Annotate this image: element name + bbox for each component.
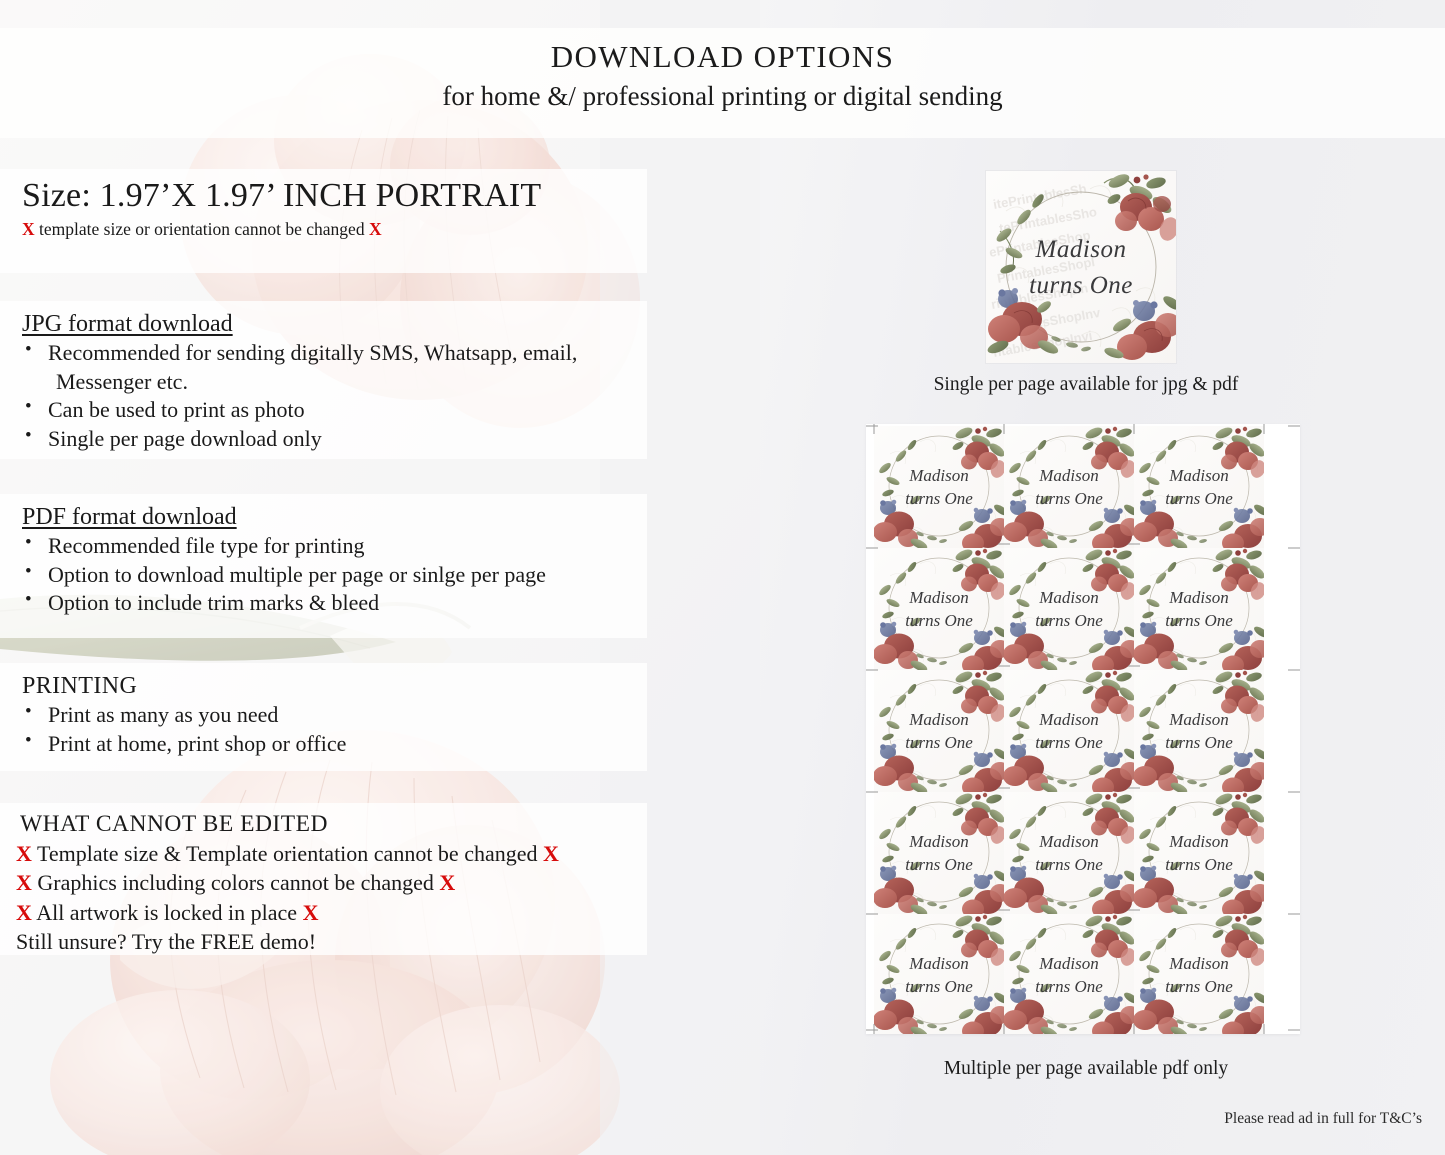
card-grid [874, 426, 1264, 1034]
list-item: Can be used to print as photo [22, 396, 633, 425]
grid-card [1004, 914, 1134, 1034]
pdf-format-panel: PDF format download Recommended file typ… [0, 494, 647, 638]
grid-card [1134, 548, 1264, 670]
printing-section-heading: PRINTING [22, 673, 633, 700]
x-mark-icon: X [22, 219, 35, 239]
jpg-format-panel: JPG format download Recommended for send… [0, 301, 647, 459]
printing-panel: PRINTING Print as many as you need Print… [0, 663, 647, 771]
list-item: Messenger etc. [22, 368, 633, 397]
grid-card [874, 670, 1004, 792]
pdf-section-heading: PDF format download [22, 504, 633, 531]
list-item: Option to include trim marks & bleed [22, 589, 633, 618]
grid-card [874, 914, 1004, 1034]
svg-text:Madison: Madison [1035, 236, 1127, 263]
locked-restriction-line: X All artwork is locked in place X [16, 898, 633, 927]
single-per-page-caption: Single per page available for jpg & pdf [876, 374, 1296, 396]
list-item: Print at home, print shop or office [22, 730, 633, 759]
svg-text:turns One: turns One [1029, 272, 1133, 299]
x-mark-icon: X [16, 900, 32, 925]
terms-and-conditions-note: Please read ad in full for T&C’s [1110, 1110, 1430, 1128]
grid-card [874, 792, 1004, 914]
list-item: Option to download multiple per page or … [22, 561, 633, 590]
multiple-per-page-caption: Multiple per page available pdf only [876, 1058, 1296, 1080]
size-restriction-note: X template size or orientation cannot be… [22, 219, 633, 240]
multiple-per-page-sheet [866, 424, 1300, 1034]
page-title: DOWNLOAD OPTIONS [0, 39, 1445, 75]
x-mark-icon: X [16, 841, 32, 866]
grid-card [1134, 792, 1264, 914]
jpg-bullet-list: Recommended for sending digitally SMS, W… [22, 339, 633, 453]
card-artwork: itePrintablesSh tePrintablesSho ePrintab… [986, 171, 1176, 363]
grid-card [1004, 548, 1134, 670]
list-item: Print as many as you need [22, 701, 633, 730]
locked-restriction-text: Template size & Template orientation can… [37, 841, 538, 866]
grid-card [1004, 426, 1134, 548]
x-mark-icon: X [369, 219, 382, 239]
single-card-preview: itePrintablesSh tePrintablesSho ePrintab… [986, 171, 1176, 363]
grid-card [1004, 792, 1134, 914]
header-band: DOWNLOAD OPTIONS for home &/ professiona… [0, 28, 1445, 138]
locked-restriction-text: Graphics including colors cannot be chan… [37, 870, 433, 895]
printing-bullet-list: Print as many as you need Print at home,… [22, 701, 633, 758]
list-item: Single per page download only [22, 425, 633, 454]
size-restriction-text: template size or orientation cannot be c… [39, 219, 365, 239]
pdf-bullet-list: Recommended file type for printing Optio… [22, 532, 633, 618]
jpg-section-heading: JPG format download [22, 311, 633, 338]
cannot-be-edited-panel: WHAT CANNOT BE EDITED X Template size & … [0, 803, 647, 955]
grid-card [1004, 670, 1134, 792]
template-size-line: Size: 1.97’X 1.97’ INCH PORTRAIT [22, 177, 633, 215]
locked-restriction-text: All artwork is locked in place [36, 900, 297, 925]
grid-card [1134, 670, 1264, 792]
cannot-be-edited-heading: WHAT CANNOT BE EDITED [20, 811, 633, 838]
poster-canvas: DOWNLOAD OPTIONS for home &/ professiona… [0, 0, 1445, 1155]
list-item: Recommended for sending digitally SMS, W… [22, 339, 633, 368]
list-item: Recommended file type for printing [22, 532, 633, 561]
x-mark-icon: X [303, 900, 319, 925]
free-demo-line: Still unsure? Try the FREE demo! [16, 927, 633, 956]
locked-restriction-line: X Graphics including colors cannot be ch… [16, 868, 633, 897]
grid-card [874, 426, 1004, 548]
page-subtitle: for home &/ professional printing or dig… [0, 81, 1445, 112]
x-mark-icon: X [16, 870, 32, 895]
locked-restriction-line: X Template size & Template orientation c… [16, 839, 633, 868]
x-mark-icon: X [439, 870, 455, 895]
x-mark-icon: X [543, 841, 559, 866]
grid-card [1134, 914, 1264, 1034]
grid-card [874, 548, 1004, 670]
grid-card [1134, 426, 1264, 548]
size-panel: Size: 1.97’X 1.97’ INCH PORTRAIT X templ… [0, 169, 647, 273]
